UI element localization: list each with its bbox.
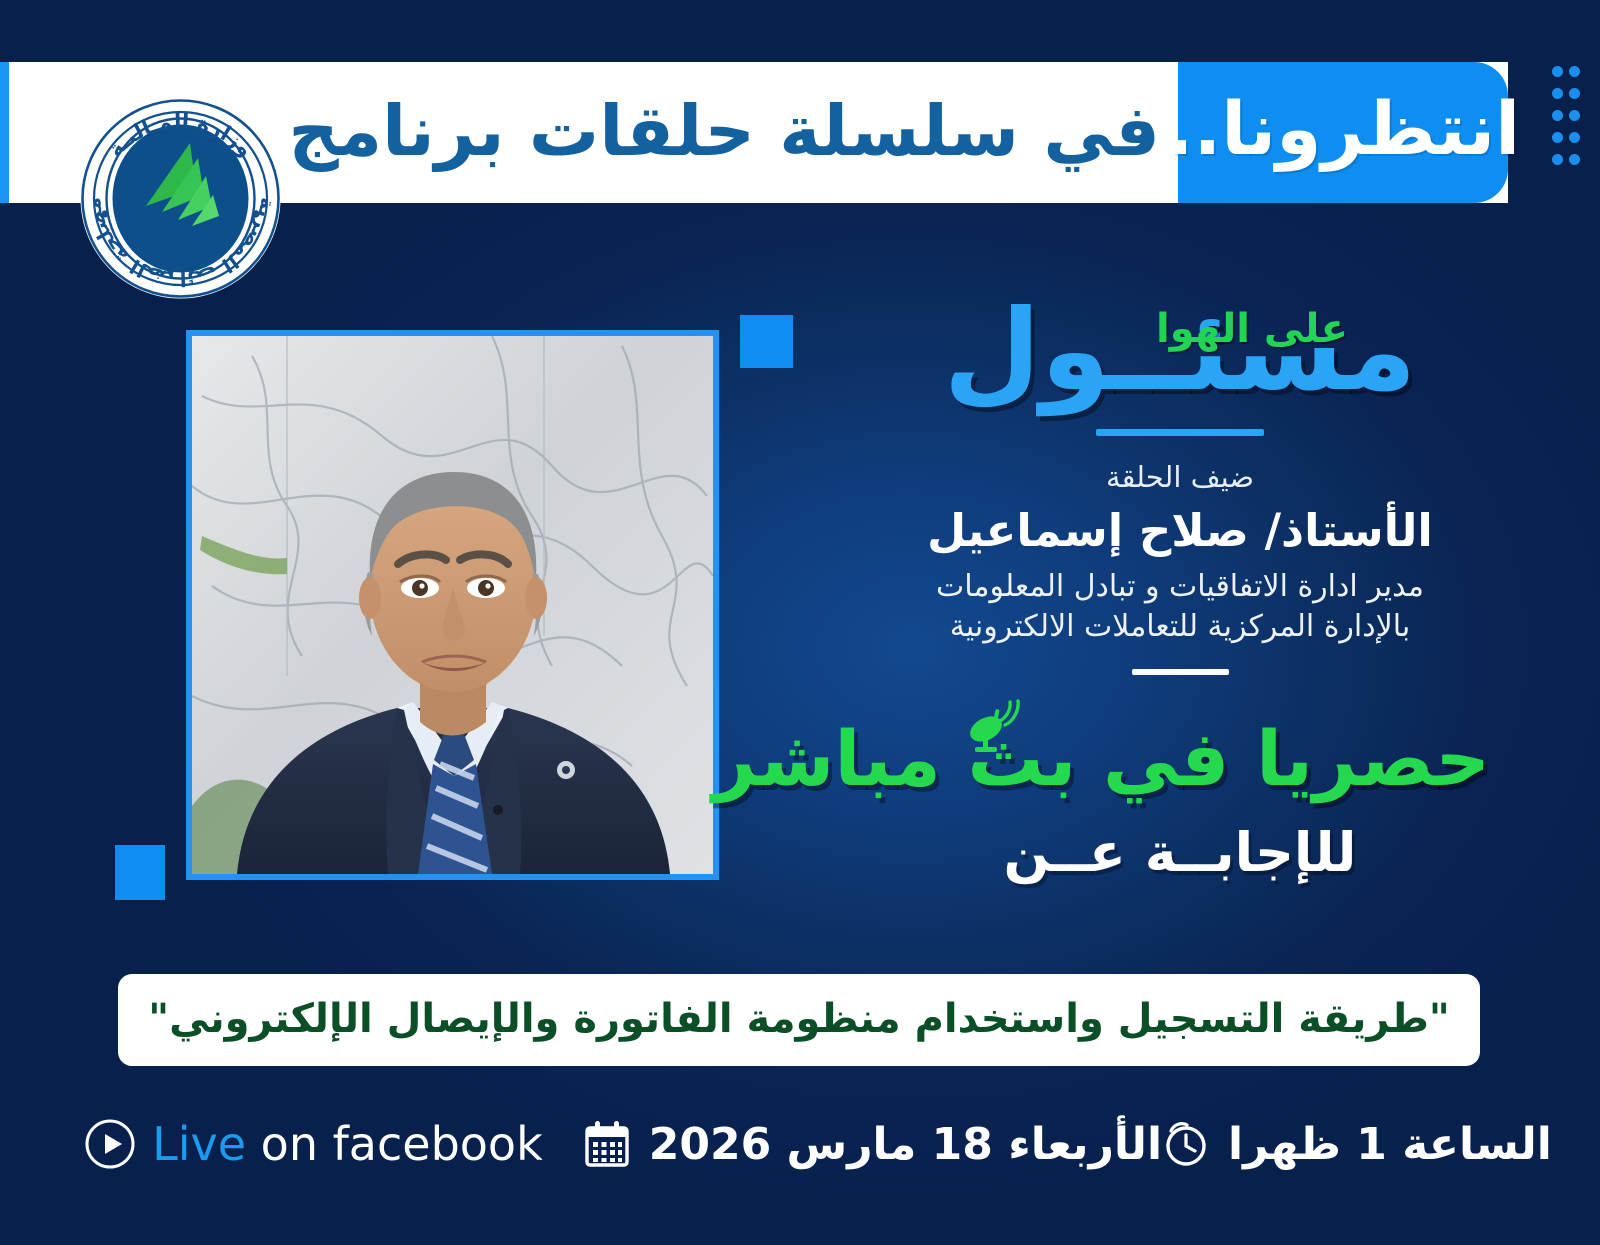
facebook-live-label: Live on facebook [152,1117,543,1171]
facebook-live-group[interactable]: Live on facebook [84,1117,543,1171]
play-circle-icon[interactable] [84,1118,136,1170]
egyptian-tax-authority-logo: وزارة المـاليـة مصلحة الضرائب المصرية [78,96,283,301]
satellite-dish-icon [966,699,1024,757]
exclusive-broadcast-row: حصريا في بث مباشر [870,721,1490,821]
calendar-icon [583,1119,631,1169]
divider-under-title [1096,429,1264,436]
guest-label: ضيف الحلقة [870,462,1490,494]
date-label: الأربعاء 18 مارس 2026 [649,1119,1162,1170]
program-title-overlay: على الهوا [1156,309,1348,349]
divider-under-role [1132,669,1229,675]
program-info-column: مسئــول على الهوا ضيف الحلقة الأستاذ/ صل… [870,295,1490,881]
header-left-accent [0,62,9,203]
accent-square-top [740,315,793,368]
topic-banner: "طريقة التسجيل واستخدام منظومة الفاتورة … [118,974,1480,1066]
guest-portrait [186,330,719,880]
footer: Live on facebook الأربعاء 18 مارس 2026 [0,1096,1600,1192]
topic-text: "طريقة التسجيل واستخدام منظومة الفاتورة … [148,997,1449,1041]
live-word: Live [152,1117,246,1171]
time-label: الساعة 1 ظهرا [1228,1119,1552,1170]
guest-name: الأستاذ/ صلاح إسماعيل [870,506,1490,556]
dot-grid-icon [1546,66,1580,176]
live-rest: on facebook [246,1117,543,1171]
header-wait-box: انتظرونا.. [1178,62,1508,203]
accent-square-bottom [115,845,165,900]
guest-role-line-2: بالإدارة المركزية للتعاملات الالكترونية [870,607,1490,647]
answer-label: للإجابــة عــن [870,825,1490,882]
header-wait-label: انتظرونا.. [1166,93,1520,166]
guest-role-line-1: مدير ادارة الاتفاقيات و تبادل المعلومات [870,567,1490,607]
header-series-label: في سلسلة حلقات برنامج [288,60,1160,201]
time-group: الساعة 1 ظهرا [1162,1119,1552,1170]
clock-icon [1162,1119,1210,1169]
program-title-row: مسئــول على الهوا [870,295,1490,415]
guest-role: مدير ادارة الاتفاقيات و تبادل المعلومات … [870,567,1490,646]
date-group: الأربعاء 18 مارس 2026 [583,1119,1162,1170]
exclusive-broadcast-label: حصريا في بث مباشر [870,721,1490,797]
poster-root: انتظرونا.. في سلسلة حلقات برنامج [0,0,1600,1245]
